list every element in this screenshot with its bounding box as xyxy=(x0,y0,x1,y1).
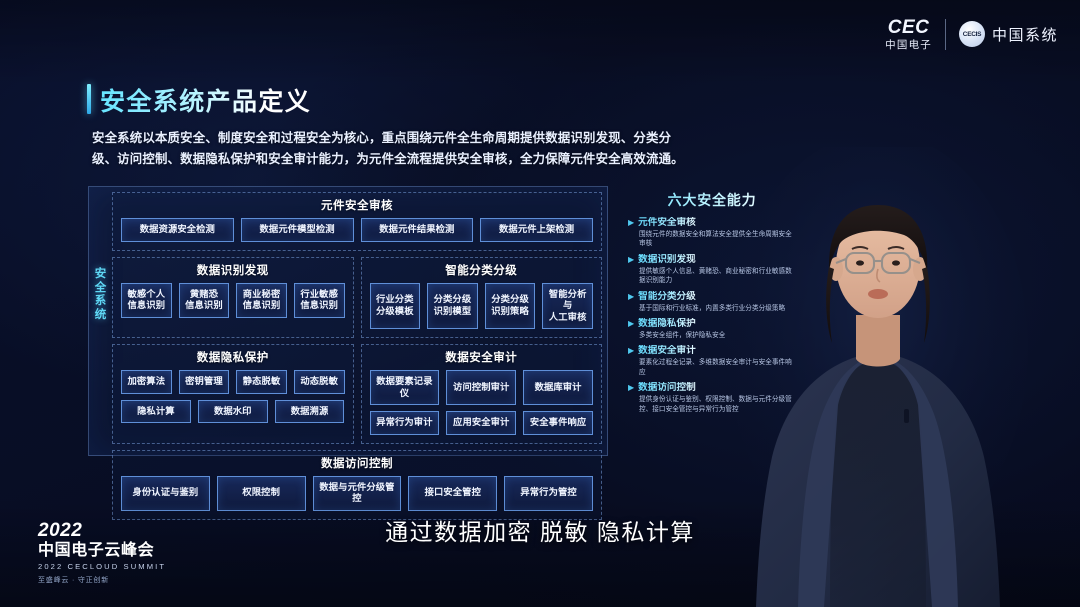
china-system-text: 中国系统 xyxy=(992,24,1058,45)
diagram-row-pair: 数据隐私保护加密算法密钥管理静态脱敏动态脱敏隐私计算数据水印数据溯源数据安全审计… xyxy=(112,344,602,444)
diagram-row: 敏感个人信息识别黄赌恐信息识别商业秘密信息识别行业敏感信息识别 xyxy=(121,283,345,318)
china-system-emblem-icon: CECIS xyxy=(959,21,985,47)
capability-list: ▶元件安全审核围绕元件的数据安全和算法安全提供全生命周期安全审核▶数据识别发现提… xyxy=(628,217,796,414)
diagram-group: 数据安全审计数据要素记录仪访问控制审计数据库审计异常行为审计应用安全审计安全事件… xyxy=(361,344,603,444)
capability-item-head: ▶数据安全审计 xyxy=(628,345,796,357)
capability-item-name: 数据识别发现 xyxy=(638,254,696,266)
diagram-group: 元件安全审核数据资源安全检测数据元件模型检测数据元件结果检测数据元件上架检测 xyxy=(112,192,602,251)
diagram-cell[interactable]: 隐私计算 xyxy=(121,400,191,424)
capability-item: ▶数据识别发现提供敏感个人信息、黄赌恐、商业秘密和行业敏感数据识别能力 xyxy=(628,254,796,286)
capability-item-name: 元件安全审核 xyxy=(638,217,696,229)
diagram-group-title: 数据识别发现 xyxy=(121,262,345,278)
capability-item-name: 数据隐私保护 xyxy=(638,318,696,330)
capability-item: ▶数据隐私保护多类安全组件，保护隐私安全 xyxy=(628,318,796,340)
diagram-row: 数据要素记录仪访问控制审计数据库审计 xyxy=(370,370,594,405)
chevron-right-icon: ▶ xyxy=(628,382,634,394)
slide-canvas: CEC 中国电子 CECIS 中国系统 安全系统产品定义 安全系统以本质安全、制… xyxy=(0,0,1080,607)
diagram-cell[interactable]: 静态脱敏 xyxy=(236,370,287,394)
diagram-cell[interactable]: 分类分级识别模型 xyxy=(427,283,478,330)
diagram-row: 异常行为审计应用安全审计安全事件响应 xyxy=(370,411,594,435)
diagram-cell[interactable]: 数据要素记录仪 xyxy=(370,370,440,405)
event-logo-english: 2022 CECLOUD SUMMIT xyxy=(38,563,166,571)
diagram-cell[interactable]: 加密算法 xyxy=(121,370,172,394)
diagram-group-title: 元件安全审核 xyxy=(121,197,593,213)
diagram-cell[interactable]: 接口安全管控 xyxy=(408,476,497,511)
diagram-group: 数据隐私保护加密算法密钥管理静态脱敏动态脱敏隐私计算数据水印数据溯源 xyxy=(112,344,354,444)
chevron-right-icon: ▶ xyxy=(628,291,634,303)
diagram-cell[interactable]: 行业敏感信息识别 xyxy=(294,283,345,318)
china-system-logo: CECIS 中国系统 xyxy=(959,21,1058,47)
diagram-cell[interactable]: 敏感个人信息识别 xyxy=(121,283,172,318)
logo-divider xyxy=(945,19,946,50)
capability-item-head: ▶数据隐私保护 xyxy=(628,318,796,330)
diagram-cell[interactable]: 数据元件结果检测 xyxy=(361,218,474,242)
chevron-right-icon: ▶ xyxy=(628,345,634,357)
diagram-groups-container: 元件安全审核数据资源安全检测数据元件模型检测数据元件结果检测数据元件上架检测数据… xyxy=(112,192,602,526)
capability-item-head: ▶智能分类分级 xyxy=(628,291,796,303)
diagram-row-pair: 数据识别发现敏感个人信息识别黄赌恐信息识别商业秘密信息识别行业敏感信息识别智能分… xyxy=(112,257,602,339)
diagram-cell[interactable]: 智能分析与人工审核 xyxy=(542,283,593,330)
diagram-cell[interactable]: 应用安全审计 xyxy=(446,411,516,435)
diagram-cell[interactable]: 异常行为审计 xyxy=(370,411,440,435)
diagram-cell[interactable]: 数据库审计 xyxy=(523,370,593,405)
diagram-cell[interactable]: 数据与元件分级管控 xyxy=(313,476,402,511)
diagram-row: 数据资源安全检测数据元件模型检测数据元件结果检测数据元件上架检测 xyxy=(121,218,593,242)
diagram-row: 身份认证与鉴别权限控制数据与元件分级管控接口安全管控异常行为管控 xyxy=(121,476,593,511)
cec-logo: CEC 中国电子 xyxy=(885,18,932,51)
diagram-cell[interactable]: 权限控制 xyxy=(217,476,306,511)
diagram-group-title: 数据隐私保护 xyxy=(121,349,345,365)
capability-panel: 六大安全能力 ▶元件安全审核围绕元件的数据安全和算法安全提供全生命周期安全审核▶… xyxy=(628,190,796,419)
diagram-group: 智能分类分级行业分类分级模板分类分级识别模型分类分级识别策略智能分析与人工审核 xyxy=(361,257,603,339)
capability-panel-title: 六大安全能力 xyxy=(628,190,796,210)
cec-mark-text: CEC xyxy=(888,18,930,37)
capability-item-name: 数据访问控制 xyxy=(638,382,696,394)
chevron-right-icon: ▶ xyxy=(628,318,634,330)
diagram-cell[interactable]: 行业分类分级模板 xyxy=(370,283,421,330)
diagram-cell[interactable]: 数据水印 xyxy=(198,400,268,424)
diagram-cell[interactable]: 访问控制审计 xyxy=(446,370,516,405)
diagram-group: 数据访问控制身份认证与鉴别权限控制数据与元件分级管控接口安全管控异常行为管控 xyxy=(112,450,602,520)
diagram-cell[interactable]: 数据资源安全检测 xyxy=(121,218,234,242)
capability-item-name: 数据安全审计 xyxy=(638,345,696,357)
cec-sub-text: 中国电子 xyxy=(885,40,932,51)
title-accent-bar xyxy=(87,84,91,114)
page-title: 安全系统产品定义 xyxy=(100,82,311,118)
diagram-row: 隐私计算数据水印数据溯源 xyxy=(121,400,345,424)
diagram-cell[interactable]: 商业秘密信息识别 xyxy=(236,283,287,318)
diagram-group-title: 数据访问控制 xyxy=(121,455,593,471)
capability-item: ▶元件安全审核围绕元件的数据安全和算法安全提供全生命周期安全审核 xyxy=(628,217,796,249)
diagram-group-title: 智能分类分级 xyxy=(370,262,594,278)
diagram-cell[interactable]: 分类分级识别策略 xyxy=(485,283,536,330)
capability-item: ▶数据访问控制提供身份认证与鉴别、权限控制、数据与元件分级管控、接口安全管控与异… xyxy=(628,382,796,414)
diagram-row: 加密算法密钥管理静态脱敏动态脱敏 xyxy=(121,370,345,394)
capability-item-desc: 提供敏感个人信息、黄赌恐、商业秘密和行业敏感数据识别能力 xyxy=(639,267,796,286)
diagram-vertical-label: 安全系统 xyxy=(90,268,111,322)
diagram-cell[interactable]: 数据元件模型检测 xyxy=(241,218,354,242)
chevron-right-icon: ▶ xyxy=(628,217,634,229)
diagram-row: 行业分类分级模板分类分级识别模型分类分级识别策略智能分析与人工审核 xyxy=(370,283,594,330)
diagram-cell[interactable]: 安全事件响应 xyxy=(523,411,593,435)
lead-paragraph: 安全系统以本质安全、制度安全和过程安全为核心，重点围绕元件全生命周期提供数据识别… xyxy=(92,128,692,170)
diagram-cell[interactable]: 密钥管理 xyxy=(179,370,230,394)
diagram-cell[interactable]: 异常行为管控 xyxy=(504,476,593,511)
diagram-cell[interactable]: 数据溯源 xyxy=(275,400,345,424)
diagram-cell[interactable]: 数据元件上架检测 xyxy=(480,218,593,242)
capability-item-desc: 多类安全组件，保护隐私安全 xyxy=(639,331,796,340)
brand-logo-bar: CEC 中国电子 CECIS 中国系统 xyxy=(885,18,1058,51)
capability-item-desc: 要素化过程全记录、多维数据安全审计与安全事件响应 xyxy=(639,358,796,377)
capability-item-head: ▶数据识别发现 xyxy=(628,254,796,266)
capability-item-desc: 基于国际和行业标准，内置多类行业分类分级策略 xyxy=(639,304,796,313)
capability-item-desc: 提供身份认证与鉴别、权限控制、数据与元件分级管控、接口安全管控与异常行为管控 xyxy=(639,395,796,414)
capability-item-name: 智能分类分级 xyxy=(638,291,696,303)
capability-item: ▶数据安全审计要素化过程全记录、多维数据安全审计与安全事件响应 xyxy=(628,345,796,377)
event-logo-tagline: 至盛峰云 · 守正创新 xyxy=(38,577,166,584)
diagram-cell[interactable]: 身份认证与鉴别 xyxy=(121,476,210,511)
capability-item-head: ▶数据访问控制 xyxy=(628,382,796,394)
capability-item-desc: 围绕元件的数据安全和算法安全提供全生命周期安全审核 xyxy=(639,230,796,249)
diagram-cell[interactable]: 黄赌恐信息识别 xyxy=(179,283,230,318)
capability-item: ▶智能分类分级基于国际和行业标准，内置多类行业分类分级策略 xyxy=(628,291,796,313)
diagram-group-title: 数据安全审计 xyxy=(370,349,594,365)
diagram-cell[interactable]: 动态脱敏 xyxy=(294,370,345,394)
capability-item-head: ▶元件安全审核 xyxy=(628,217,796,229)
bottom-caption: 通过数据加密 脱敏 隐私计算 xyxy=(0,513,1080,547)
chevron-right-icon: ▶ xyxy=(628,254,634,266)
diagram-group: 数据识别发现敏感个人信息识别黄赌恐信息识别商业秘密信息识别行业敏感信息识别 xyxy=(112,257,354,339)
